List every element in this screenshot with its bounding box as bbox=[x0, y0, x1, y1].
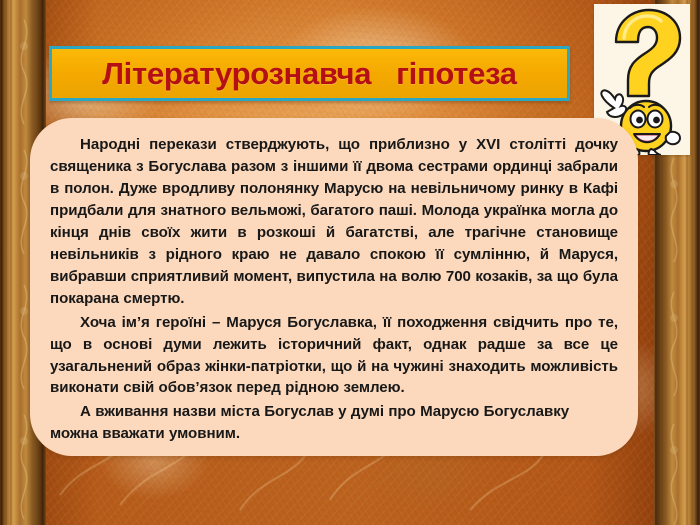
title-banner: Літературознавча гіпотеза bbox=[49, 46, 570, 101]
content-panel: Народні перекази стверджують, що приблиз… bbox=[30, 118, 638, 456]
slide-canvas: Літературознавча гіпотеза bbox=[0, 0, 700, 525]
paragraph-2: Хоча ім’я героїні – Маруся Богуславка, ї… bbox=[50, 312, 618, 400]
page-title: Літературознавча гіпотеза bbox=[102, 58, 517, 89]
paragraph-3: А вживання назви міста Богуслав у думі п… bbox=[50, 401, 618, 445]
paragraph-1: Народні перекази стверджують, що приблиз… bbox=[50, 134, 618, 310]
